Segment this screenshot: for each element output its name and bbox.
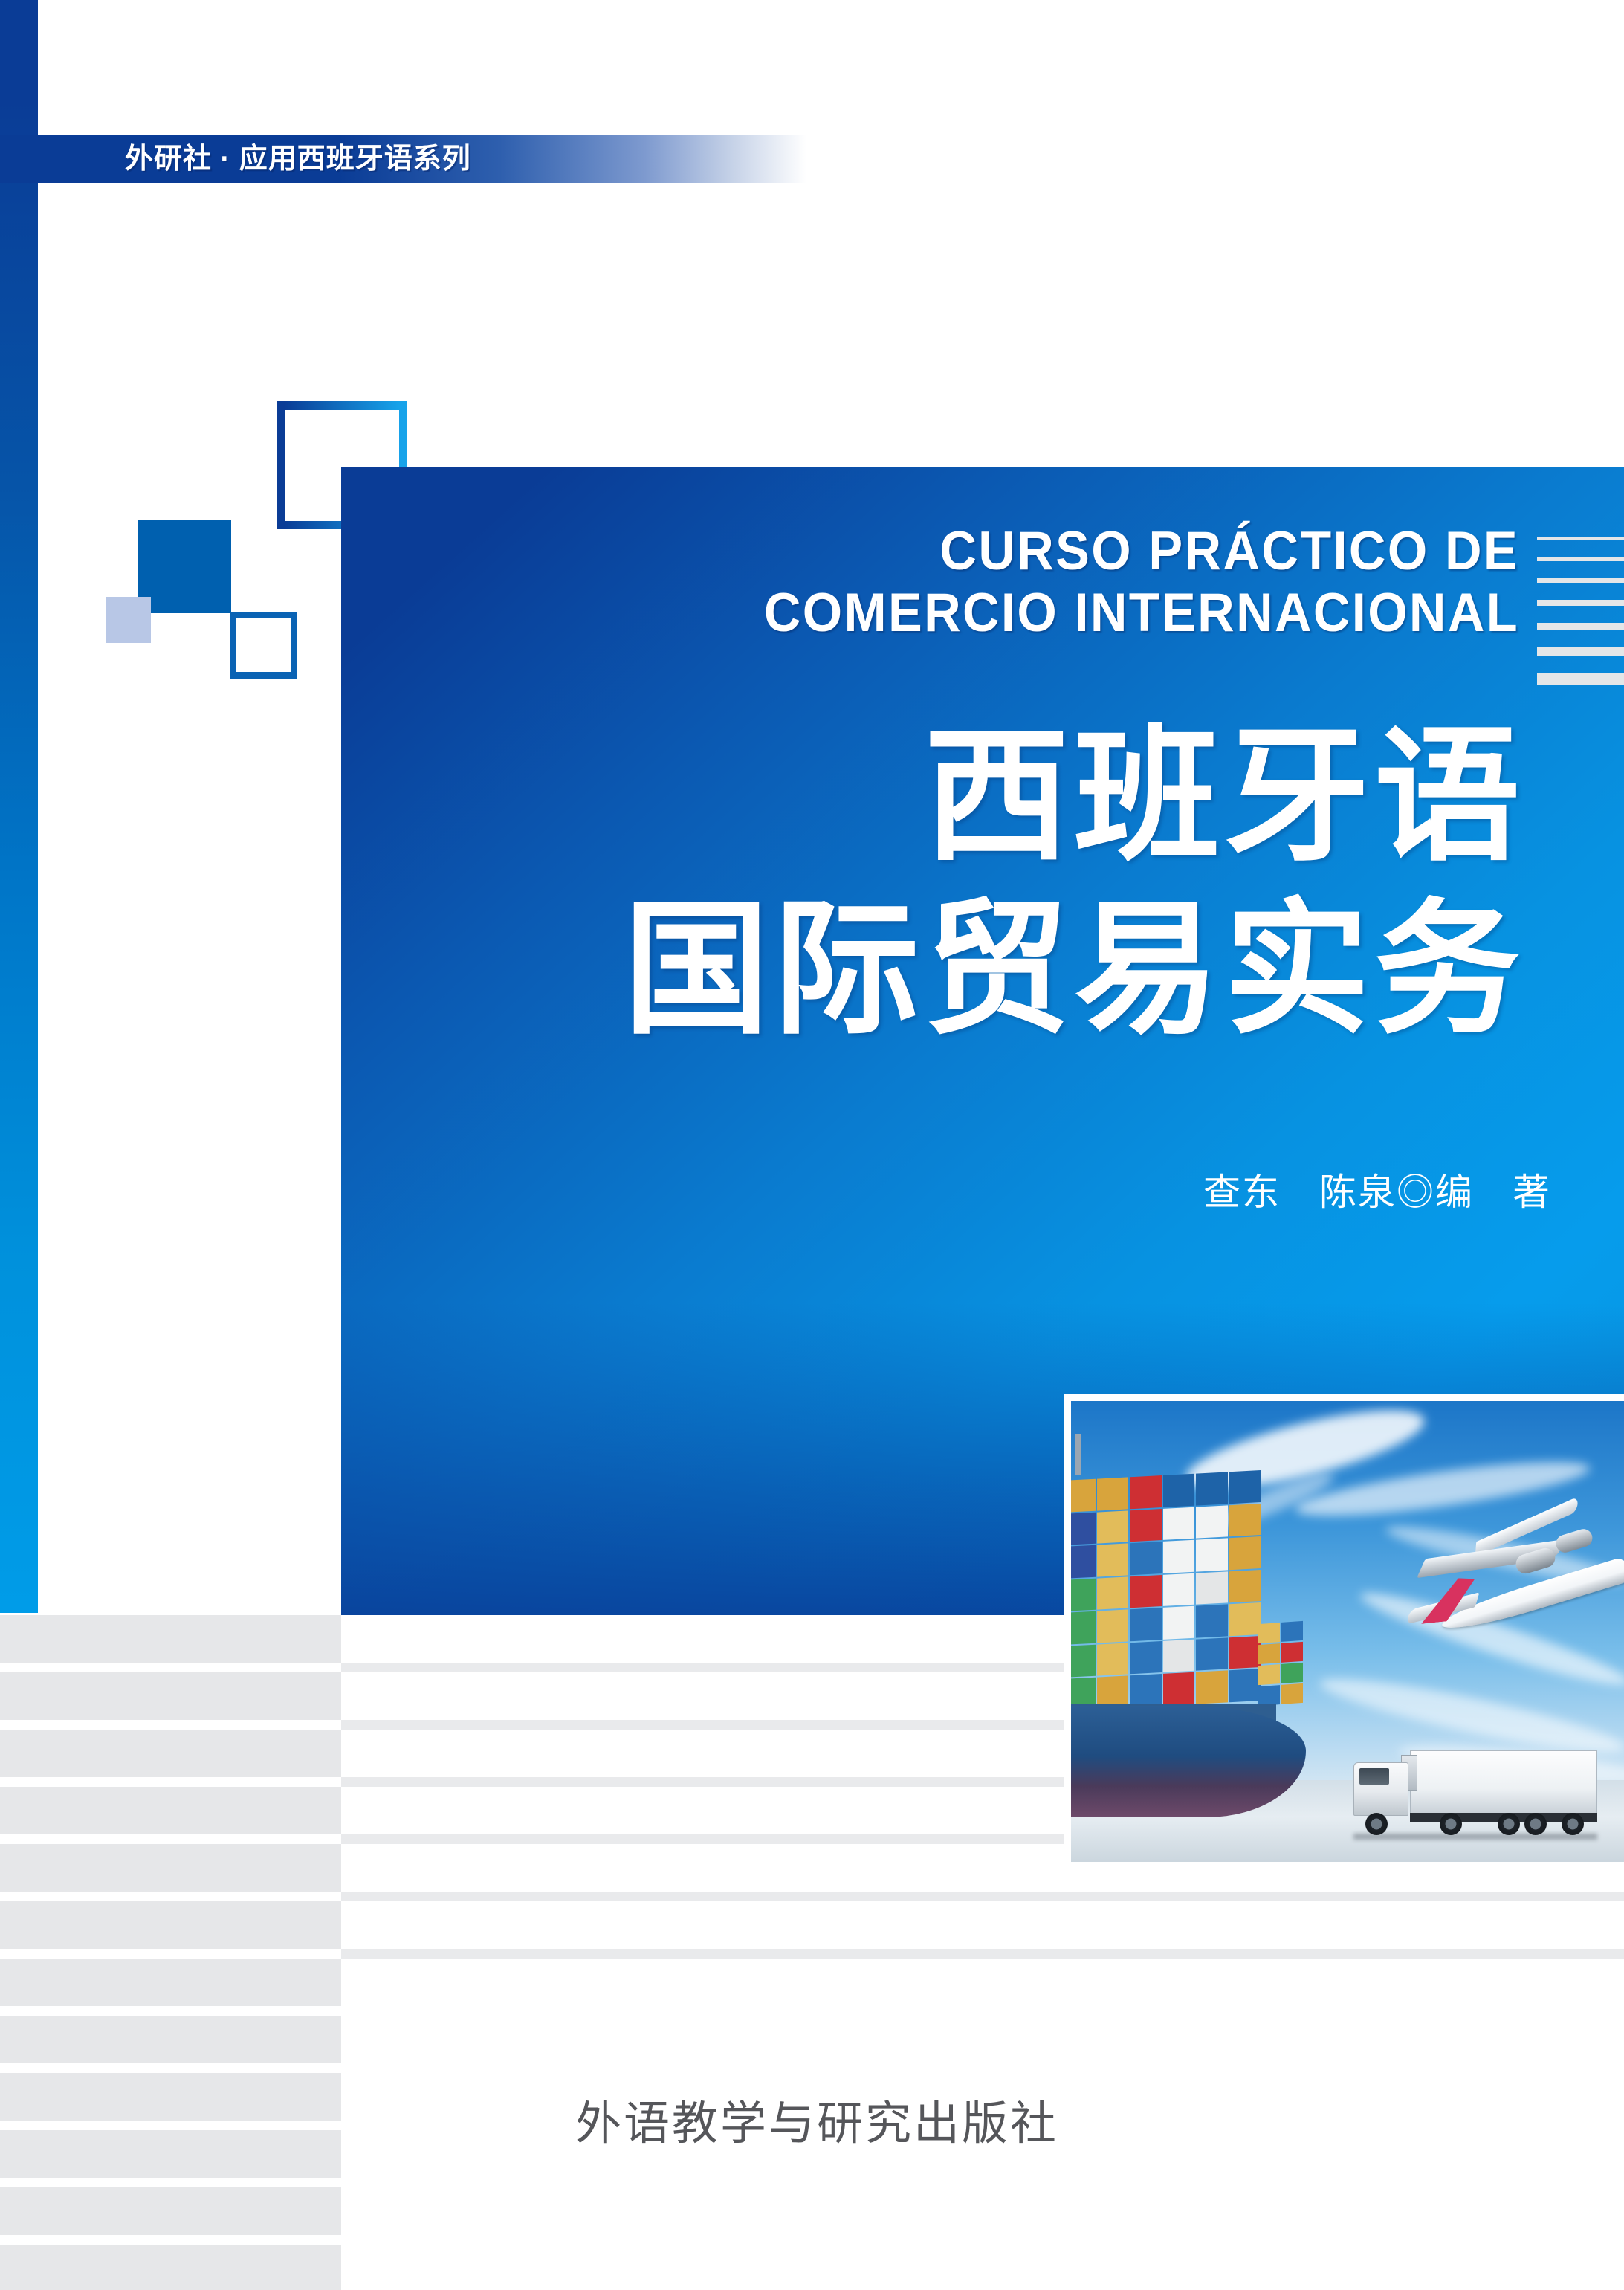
shipping-container bbox=[1258, 1664, 1280, 1685]
shipping-container bbox=[1229, 1669, 1261, 1702]
shipping-container bbox=[1258, 1643, 1280, 1664]
shipping-container bbox=[1071, 1645, 1096, 1678]
decor-square-filled-large bbox=[138, 520, 231, 613]
logistics-photo bbox=[1071, 1401, 1624, 1862]
shipping-container bbox=[1281, 1642, 1303, 1663]
left-spine-bar bbox=[0, 0, 38, 1613]
shipping-container bbox=[1130, 1542, 1162, 1575]
shipping-container bbox=[1258, 1623, 1280, 1643]
truck-wheel bbox=[1440, 1813, 1462, 1835]
shipping-container bbox=[1258, 1685, 1280, 1706]
book-cover: 外研社 · 应用西班牙语系列 CURSO PRÁCTICO DE COMERCI… bbox=[0, 0, 1624, 2290]
plane-engine bbox=[1554, 1527, 1595, 1555]
shipping-container bbox=[1163, 1640, 1195, 1673]
shipping-container bbox=[1130, 1509, 1162, 1542]
shipping-container bbox=[1163, 1540, 1195, 1573]
shipping-container bbox=[1071, 1578, 1096, 1611]
shipping-container bbox=[1130, 1475, 1162, 1509]
shipping-container bbox=[1196, 1539, 1228, 1572]
shipping-container bbox=[1130, 1608, 1162, 1641]
shipping-container bbox=[1229, 1504, 1261, 1537]
shipping-container bbox=[1130, 1674, 1162, 1707]
decor-square-pale bbox=[106, 597, 151, 643]
truck-wheel bbox=[1365, 1813, 1388, 1835]
truck-windshield bbox=[1359, 1768, 1389, 1785]
shipping-container bbox=[1097, 1610, 1129, 1643]
chinese-title-line-2: 国际贸易实务 bbox=[341, 883, 1524, 1056]
shipping-container bbox=[1071, 1611, 1096, 1645]
author-line: 查东 陈泉◎编 著 bbox=[341, 1168, 1551, 1216]
chinese-title: 西班牙语 国际贸易实务 bbox=[341, 710, 1524, 1056]
shipping-container bbox=[1163, 1672, 1195, 1706]
ship-hull bbox=[1071, 1706, 1306, 1817]
shipping-container bbox=[1281, 1621, 1303, 1642]
shipping-container bbox=[1071, 1512, 1096, 1545]
shipping-container bbox=[1130, 1641, 1162, 1675]
shipping-container bbox=[1196, 1671, 1228, 1704]
decor-square-outline-small bbox=[230, 612, 297, 679]
cargo-plane-icon bbox=[1391, 1498, 1624, 1639]
spanish-title-line-1: CURSO PRÁCTICO DE bbox=[412, 520, 1519, 582]
shipping-container bbox=[1196, 1472, 1228, 1505]
shipping-container bbox=[1163, 1474, 1195, 1507]
decor-rule-line bbox=[1537, 578, 1624, 583]
shipping-container bbox=[1229, 1536, 1261, 1570]
decor-rule-line bbox=[1537, 537, 1624, 540]
shipping-container bbox=[1071, 1545, 1096, 1579]
spanish-title-line-2: COMERCIO INTERNACIONAL bbox=[412, 582, 1519, 644]
shipping-container bbox=[1097, 1544, 1129, 1577]
shipping-container bbox=[1229, 1636, 1261, 1669]
cover-photo-frame bbox=[1064, 1394, 1624, 1862]
shipping-container bbox=[1281, 1663, 1303, 1683]
shipping-container bbox=[1163, 1606, 1195, 1640]
truck-shadow bbox=[1353, 1834, 1597, 1840]
shipping-container bbox=[1196, 1605, 1228, 1638]
shipping-container bbox=[1071, 1479, 1096, 1513]
shipping-container bbox=[1097, 1643, 1129, 1676]
decor-rule-lines bbox=[1537, 537, 1624, 685]
series-label: 外研社 · 应用西班牙语系列 bbox=[125, 138, 471, 181]
shipping-container bbox=[1097, 1477, 1129, 1510]
bottom-stripes-left bbox=[0, 1615, 341, 2290]
truck-wheel bbox=[1524, 1813, 1547, 1835]
spanish-title: CURSO PRÁCTICO DE COMERCIO INTERNACIONAL bbox=[412, 520, 1519, 644]
shipping-container bbox=[1097, 1510, 1129, 1544]
publisher-name: 外语教学与研究出版社 bbox=[341, 2095, 1293, 2154]
shipping-container bbox=[1196, 1505, 1228, 1539]
chinese-title-line-1: 西班牙语 bbox=[341, 710, 1524, 883]
ship-mast bbox=[1075, 1434, 1081, 1475]
shipping-containers-small-stack bbox=[1258, 1621, 1303, 1706]
decor-rule-line bbox=[1537, 557, 1624, 561]
shipping-container bbox=[1196, 1637, 1228, 1671]
decor-rule-line bbox=[1537, 647, 1624, 656]
cargo-truck-icon bbox=[1352, 1746, 1597, 1841]
shipping-container bbox=[1163, 1573, 1195, 1606]
shipping-container bbox=[1097, 1576, 1129, 1610]
truck-wheel bbox=[1562, 1813, 1584, 1835]
shipping-container bbox=[1163, 1507, 1195, 1540]
shipping-container bbox=[1281, 1683, 1303, 1704]
shipping-container bbox=[1196, 1571, 1228, 1605]
decor-rule-line bbox=[1537, 673, 1624, 685]
shipping-container bbox=[1229, 1602, 1261, 1636]
shipping-container bbox=[1229, 1570, 1261, 1603]
shipping-container bbox=[1130, 1575, 1162, 1608]
shipping-container bbox=[1229, 1470, 1261, 1504]
truck-wheel bbox=[1498, 1813, 1520, 1835]
decor-rule-line bbox=[1537, 600, 1624, 606]
decor-rule-line bbox=[1537, 623, 1624, 630]
truck-trailer bbox=[1410, 1750, 1597, 1814]
shipping-containers bbox=[1071, 1470, 1261, 1711]
